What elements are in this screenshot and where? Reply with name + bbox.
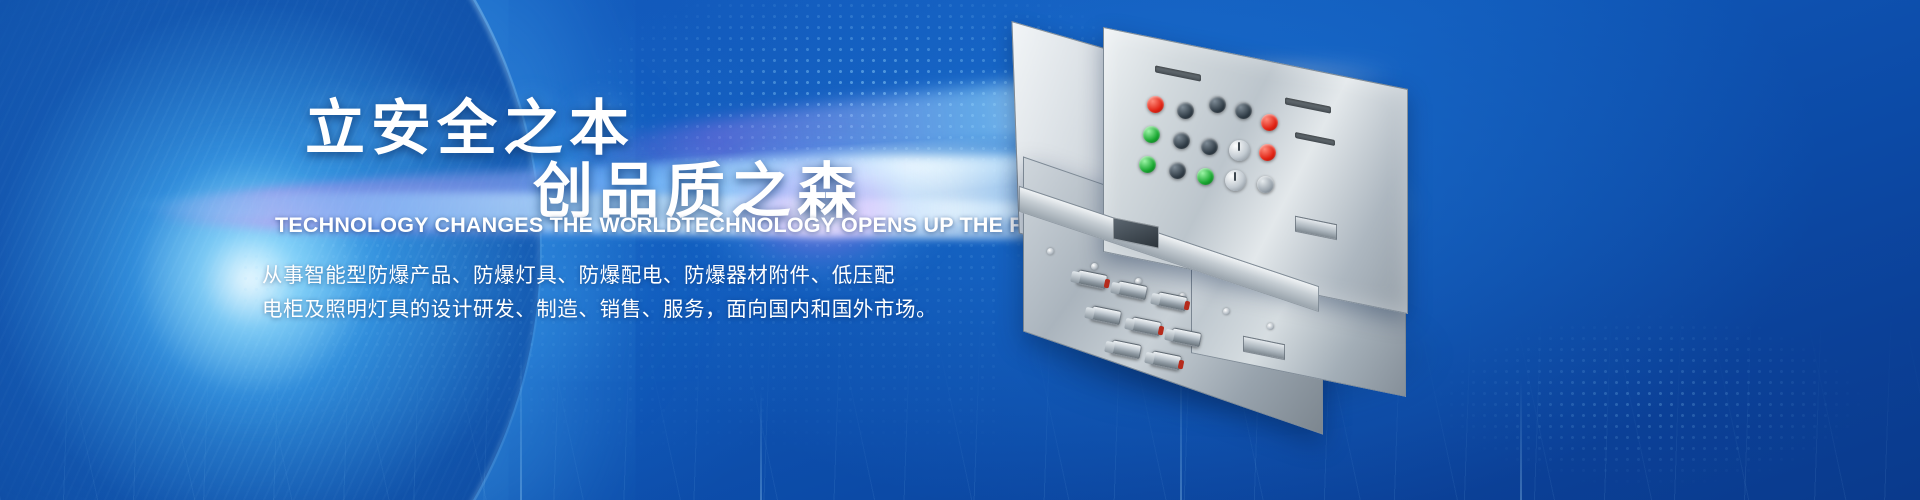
indicator-lamp-green[interactable]: [1197, 168, 1214, 185]
indicator-lamp-red[interactable]: [1261, 114, 1278, 131]
indicator-lamp-green[interactable]: [1139, 156, 1156, 173]
indicator-lamp-green[interactable]: [1143, 126, 1160, 143]
description-block: 从事智能型防爆产品、防爆灯具、防爆配电、防爆器材附件、低压配 电柜及照明灯具的设…: [262, 258, 922, 326]
selector-knob[interactable]: [1225, 170, 1246, 191]
light-ray-graphic: [1520, 380, 1522, 500]
push-button-black[interactable]: [1173, 132, 1190, 149]
push-button-black[interactable]: [1169, 162, 1186, 179]
push-button-grey[interactable]: [1257, 176, 1274, 193]
explosion-proof-control-cabinet: [995, 40, 1515, 440]
push-button-black[interactable]: [1209, 96, 1226, 113]
flange-screw: [1267, 323, 1274, 330]
flange-screw: [1091, 263, 1098, 270]
flange-screw: [1047, 248, 1054, 255]
banner-copy: 立安全之本 创品质之森 TECHNOLOGY CHANGES THE WORLD…: [0, 0, 1000, 500]
indicator-lamp-red[interactable]: [1147, 96, 1164, 113]
description-line-2: 电柜及照明灯具的设计研发、制造、销售、服务，面向国内和国外市场。: [262, 292, 922, 326]
flange-screw: [1223, 308, 1230, 315]
push-button-black[interactable]: [1235, 102, 1252, 119]
english-tagline: TECHNOLOGY CHANGES THE WORLDTECHNOLOGY O…: [275, 213, 1098, 238]
push-button-black[interactable]: [1177, 102, 1194, 119]
selector-knob[interactable]: [1229, 140, 1250, 161]
indicator-lamp-red[interactable]: [1259, 144, 1276, 161]
description-line-1: 从事智能型防爆产品、防爆灯具、防爆配电、防爆器材附件、低压配: [262, 258, 922, 292]
hero-banner: 立安全之本 创品质之森 TECHNOLOGY CHANGES THE WORLD…: [0, 0, 1920, 500]
push-button-black[interactable]: [1201, 138, 1218, 155]
